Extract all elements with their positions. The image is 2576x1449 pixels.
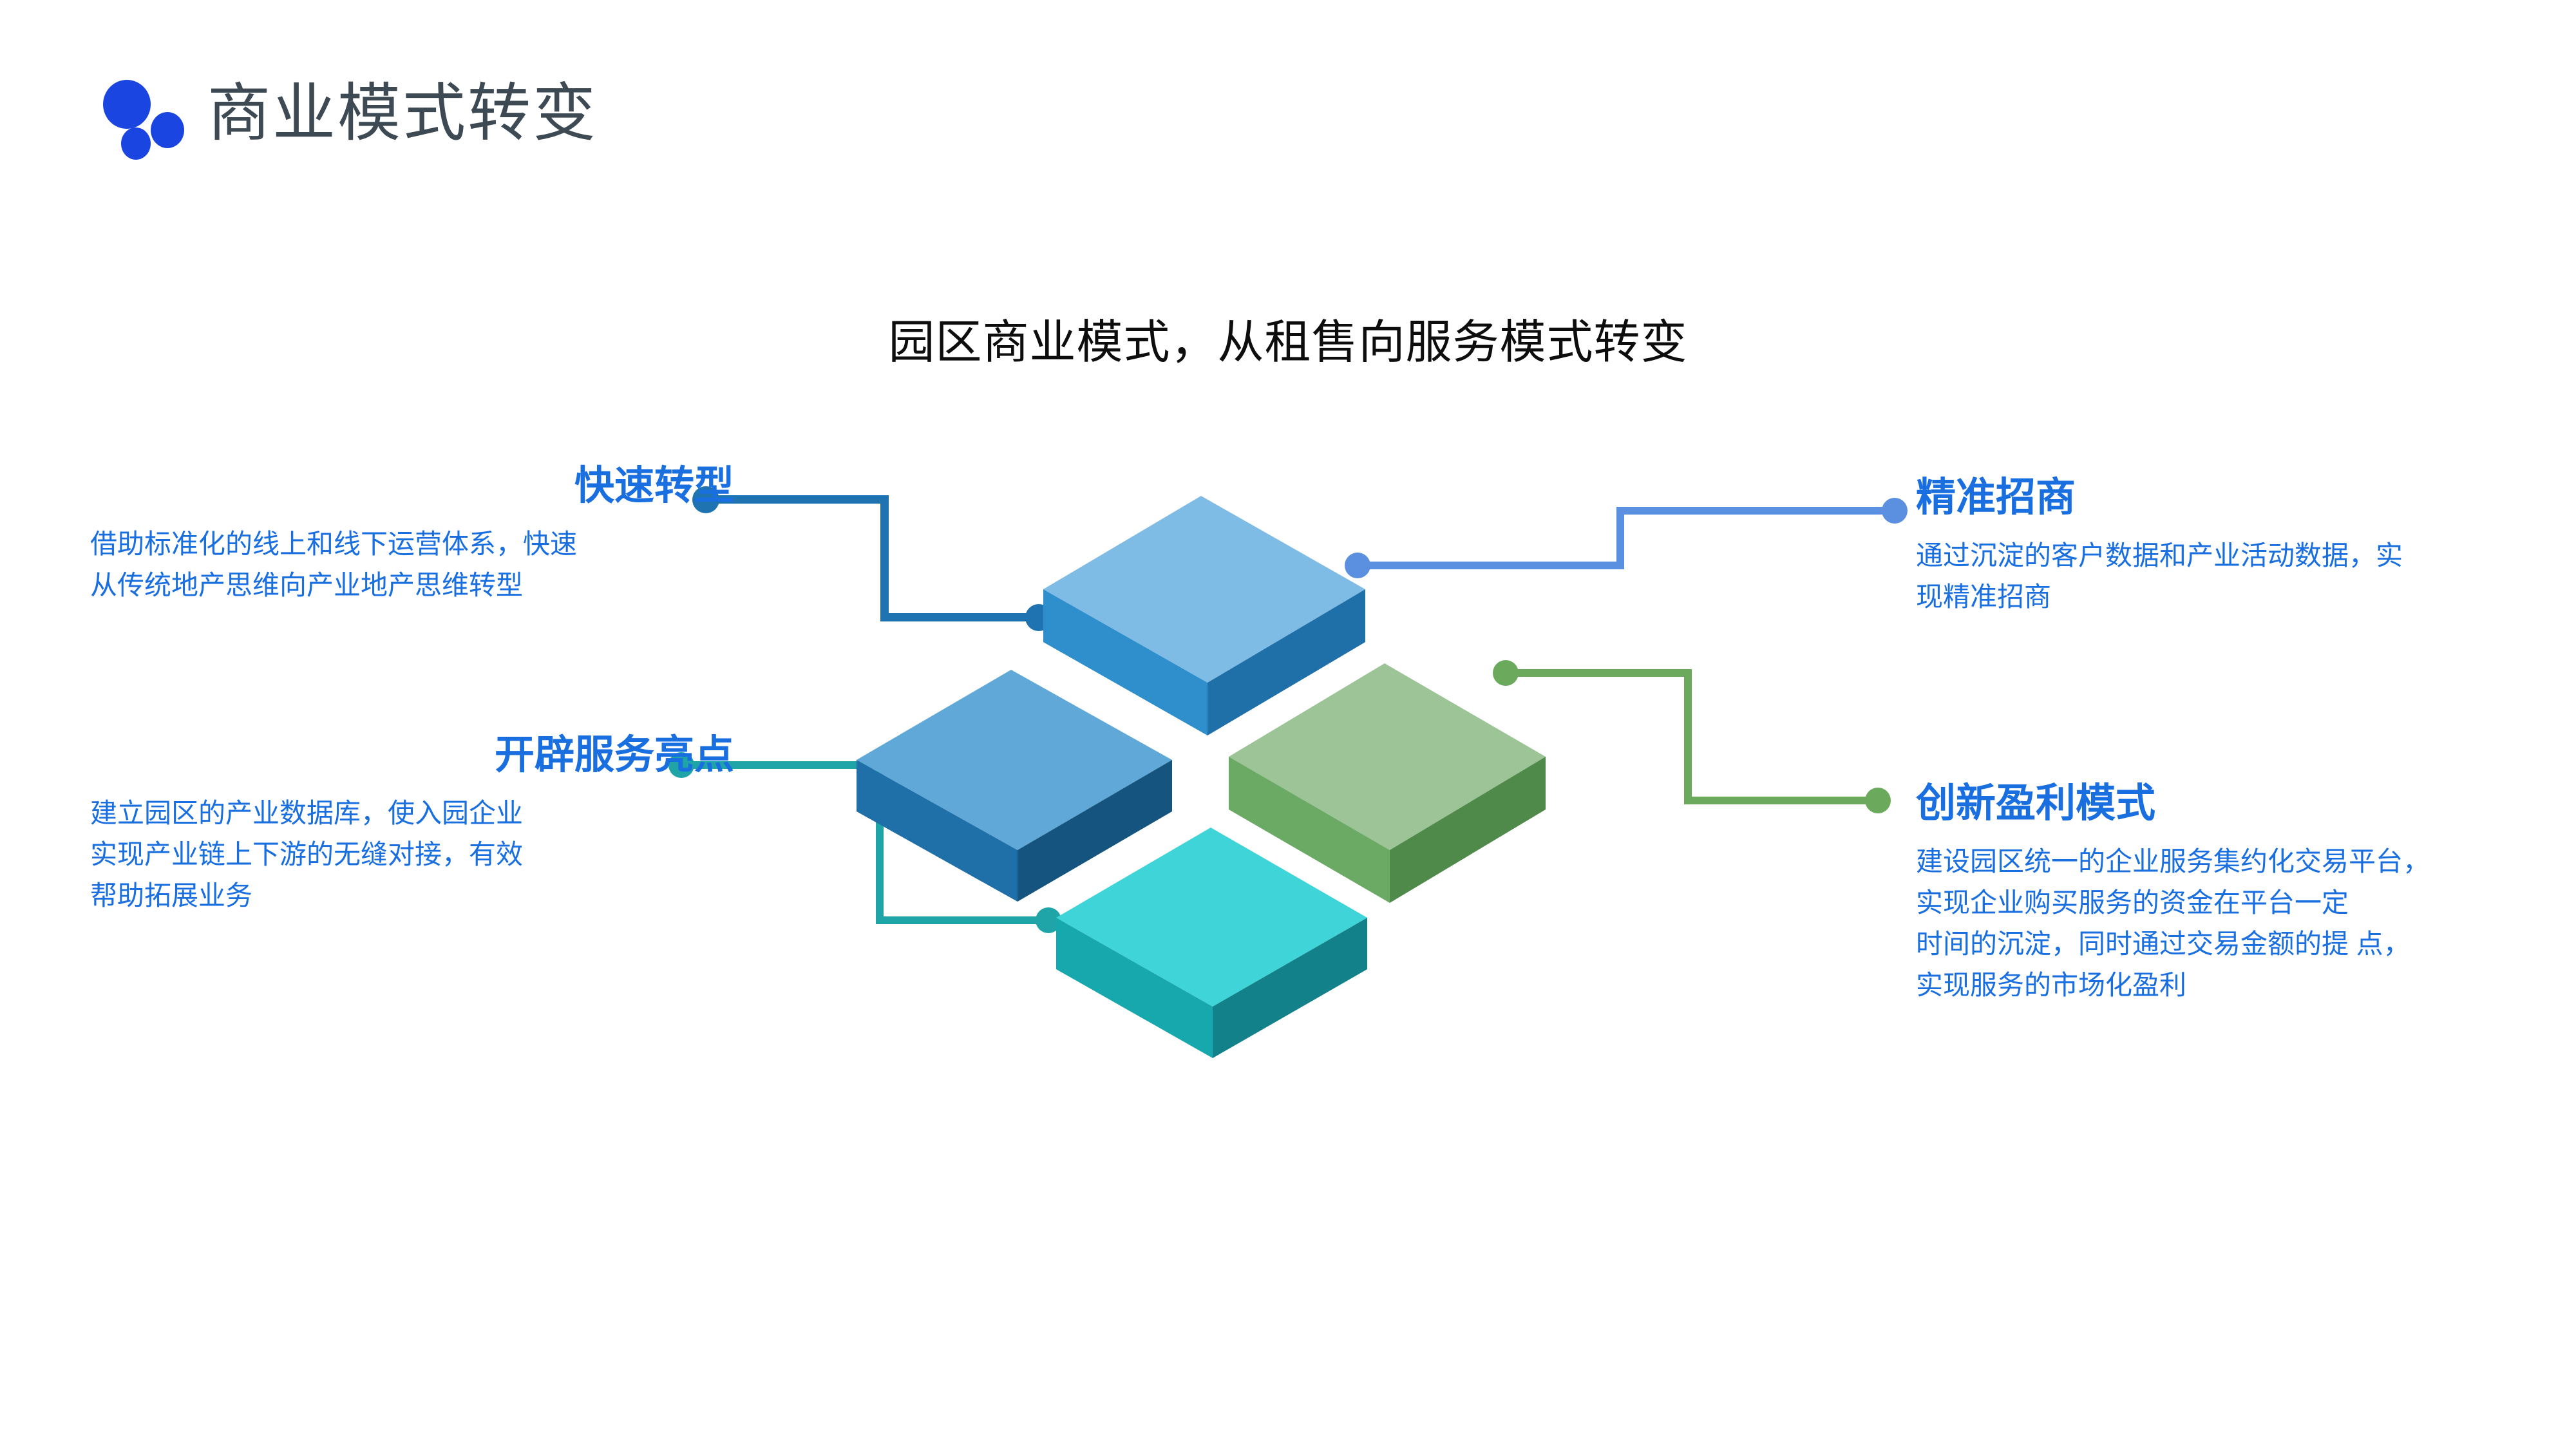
callout-heading: 创新盈利模式: [1916, 782, 2566, 824]
top-blue-box: [1037, 496, 1385, 753]
callout-body: 通过沉淀的客户数据和产业活动数据，实 现精准招商: [1916, 535, 2534, 618]
callout-heading: 精准招商: [1916, 477, 2534, 518]
callout-body-line: 借助标准化的线上和线下运营体系，快速: [90, 524, 734, 565]
callout-body-line: 实现产业链上下游的无缝对接，有效: [90, 834, 734, 875]
callout-heading: 快速转型: [90, 465, 734, 507]
callout-profit-model[interactable]: 创新盈利模式 建设园区统一的企业服务集约化交易平台， 实现企业购买服务的资金在平…: [1916, 782, 2566, 1005]
slide-subtitle: 园区商业模式，从租售向服务模式转变: [0, 304, 2576, 372]
connector-segment-horizontal-top: [1616, 507, 1892, 515]
callout-fast-transform[interactable]: 快速转型 借助标准化的线上和线下运营体系，快速 从传统地产思维向产业地产思维转型: [90, 465, 734, 606]
logo-dot-large: [103, 80, 151, 129]
callout-body: 建设园区统一的企业服务集约化交易平台， 实现企业购买服务的资金在平台一定 时间的…: [1916, 841, 2566, 1005]
callout-body-line: 实现服务的市场化盈利: [1916, 965, 2566, 1006]
page-title: 商业模式转变: [207, 81, 598, 144]
callout-body: 借助标准化的线上和线下运营体系，快速 从传统地产思维向产业地产思维转型: [90, 524, 734, 606]
connector-segment-horizontal-bottom: [1684, 797, 1876, 804]
callout-body-line: 实现企业购买服务的资金在平台一定: [1916, 882, 2566, 923]
bottom-cyan-box: [1053, 828, 1381, 1072]
isometric-box-cluster: [844, 477, 1616, 1018]
logo-dot-small: [121, 128, 151, 160]
connector-segment-vertical: [1684, 669, 1692, 804]
logo-dot-medium: [151, 112, 184, 148]
connector-endpoint-label: [1865, 788, 1891, 813]
callout-body-line: 时间的沉淀，同时通过交易金额的提 点，: [1916, 923, 2566, 965]
callout-body-line: 建立园区的产业数据库，使入园企业: [90, 793, 734, 834]
three-dots-logo-icon: [97, 71, 180, 155]
callout-body-line: 从传统地产思维向产业地产思维转型: [90, 565, 734, 606]
callout-body-line: 通过沉淀的客户数据和产业活动数据，实: [1916, 535, 2534, 576]
callout-body: 建立园区的产业数据库，使入园企业 实现产业链上下游的无缝对接，有效 帮助拓展业务: [90, 793, 734, 916]
callout-precise-investment[interactable]: 精准招商 通过沉淀的客户数据和产业活动数据，实 现精准招商: [1916, 477, 2534, 618]
connector-segment-vertical: [1616, 507, 1624, 569]
callout-service-highlight[interactable]: 开辟服务亮点 建立园区的产业数据库，使入园企业 实现产业链上下游的无缝对接，有效…: [90, 734, 734, 916]
callout-heading: 开辟服务亮点: [90, 734, 734, 776]
callout-body-line: 现精准招商: [1916, 576, 2534, 618]
slide-header: 商业模式转变: [97, 71, 598, 155]
slide-canvas: 商业模式转变 园区商业模式，从租售向服务模式转变: [0, 0, 2576, 1449]
callout-body-line: 建设园区统一的企业服务集约化交易平台，: [1916, 841, 2566, 882]
callout-body-line: 帮助拓展业务: [90, 875, 734, 916]
connector-endpoint-label: [1882, 498, 1908, 524]
